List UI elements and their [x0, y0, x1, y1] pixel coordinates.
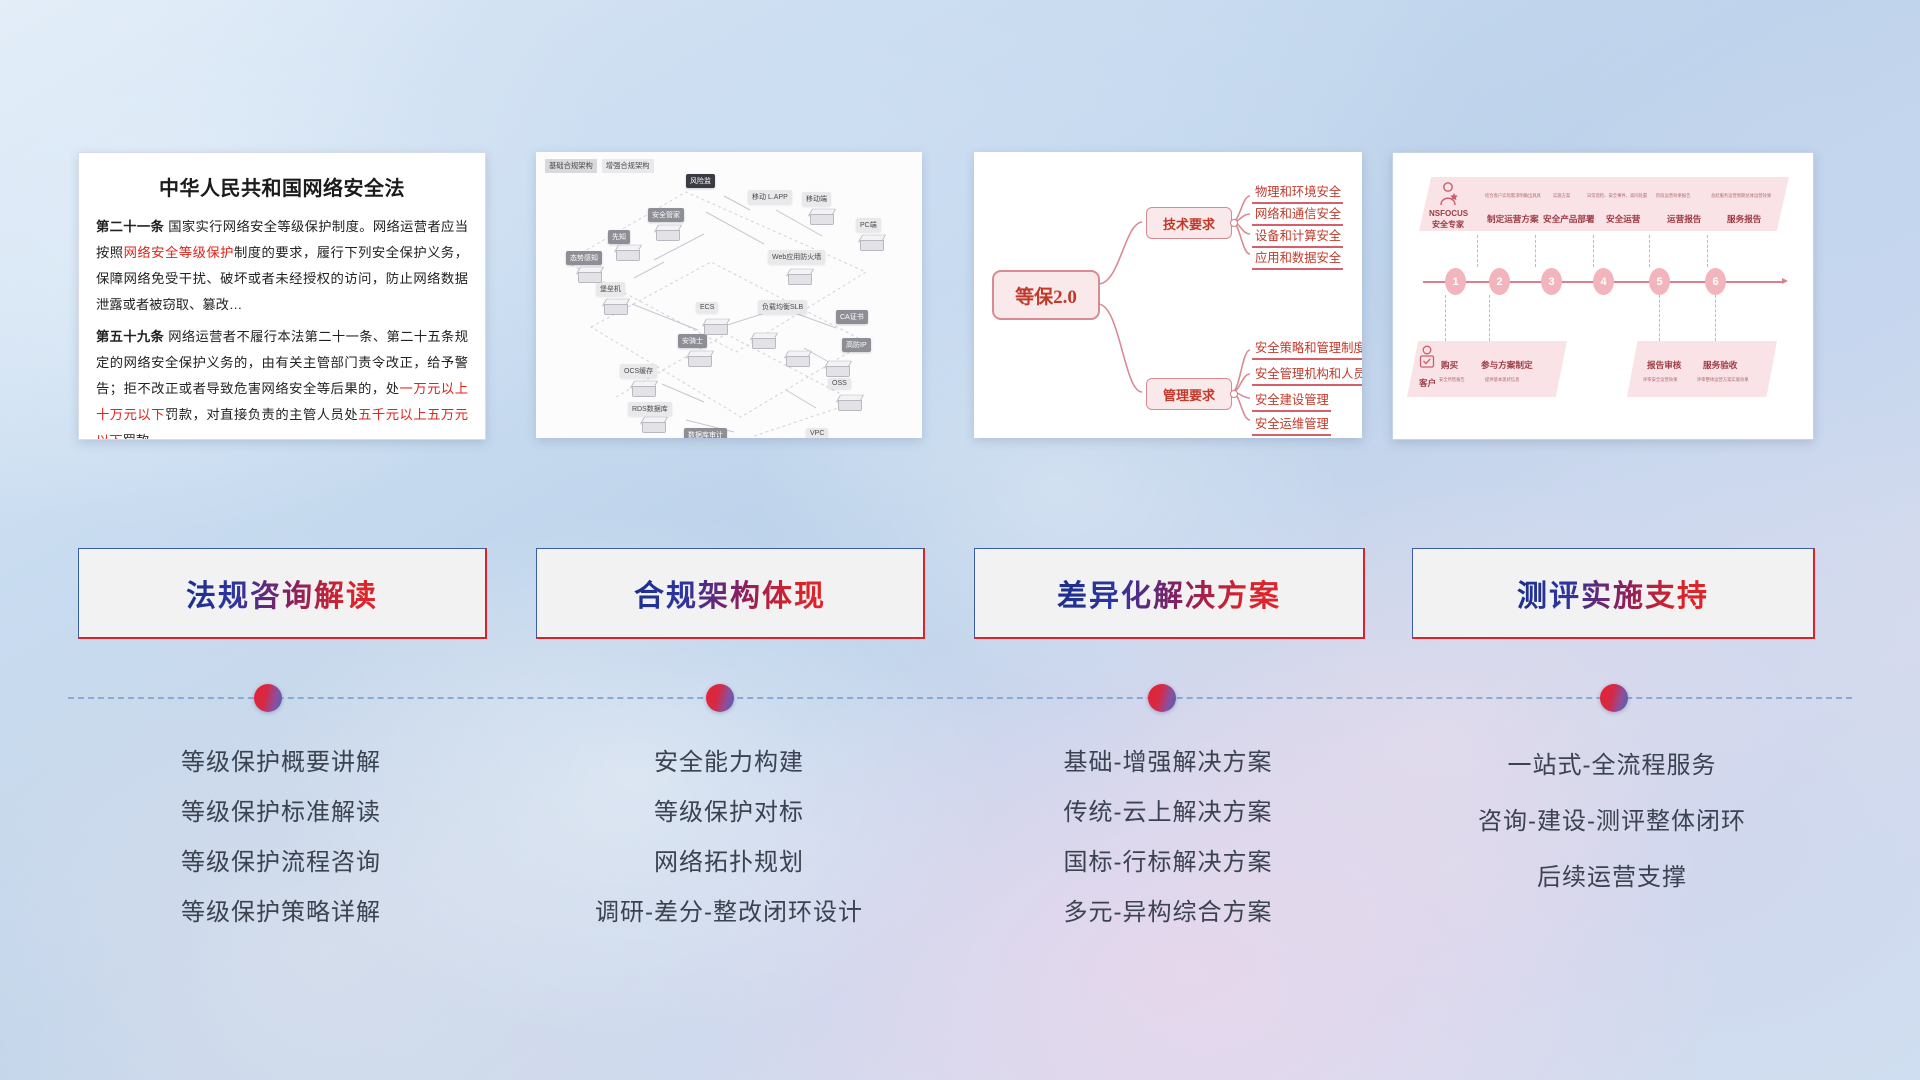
arch-monitor-icon	[858, 232, 884, 252]
timeline-dashed-line	[68, 697, 1852, 699]
expert-person-icon	[1437, 181, 1459, 207]
card-process-timeline[interactable]: NSFOCUS 安全专家 结合客户实际需求明确出具具 制定运营方案 实施方案 安…	[1392, 152, 1814, 440]
step-number: 3	[1541, 268, 1562, 295]
headline-button-assessment-support[interactable]: 测评实施支持	[1412, 548, 1815, 639]
architecture-canvas: 基础合规架构 增强合规架构	[536, 152, 922, 438]
step-sub: 日常巡检、安全事件、高同处置	[1587, 193, 1647, 199]
mindmap-canvas: 等保2.0 技术要求 物理和环境安全 网络和通信安全 设备和计算安全 应用和数据…	[974, 152, 1362, 438]
arch-node-ca-cert: CA证书	[836, 310, 868, 324]
process-canvas: NSFOCUS 安全专家 结合客户实际需求明确出具具 制定运营方案 实施方案 安…	[1393, 153, 1813, 439]
mindmap-leaf: 设备和计算安全	[1252, 226, 1343, 248]
step-title: 安全运营	[1606, 213, 1640, 225]
detail-item: 等级保护标准解读	[78, 788, 484, 838]
step-title: 购买	[1441, 359, 1458, 371]
detail-item: 调研-差分-整改闭环设计	[536, 888, 922, 938]
step-tick	[1489, 295, 1490, 341]
vendor-name: NSFOCUS	[1429, 209, 1468, 218]
card-mindmap[interactable]: 等保2.0 技术要求 物理和环境安全 网络和通信安全 设备和计算安全 应用和数据…	[974, 152, 1362, 438]
arch-cube-icon	[750, 330, 776, 350]
card-row: 中华人民共和国网络安全法 第二十一条 国家实行网络安全等级保护制度。网络运营者应…	[0, 152, 1920, 442]
mindmap-leaf: 安全运维管理	[1252, 414, 1331, 436]
detail-item: 传统-云上解决方案	[974, 788, 1362, 838]
step-title: 服务验收	[1703, 359, 1737, 371]
arch-node-db-audit: 数据库审计	[684, 428, 727, 438]
mindmap-branch-technical: 技术要求	[1146, 207, 1232, 239]
arch-cube-icon	[640, 414, 666, 434]
arch-node-mobile: 移动端	[802, 192, 831, 206]
timeline-dot[interactable]	[1600, 684, 1628, 712]
architecture-wireframe	[536, 152, 922, 438]
step-tick	[1445, 295, 1446, 341]
step-number: 4	[1593, 268, 1614, 295]
step-sub: 安全所售报告	[1439, 377, 1465, 383]
arch-node-ecs: ECS	[696, 302, 718, 313]
arch-cube-icon	[602, 296, 628, 316]
headline-button-differentiated-solution[interactable]: 差异化解决方案	[974, 548, 1365, 639]
law-body: 中华人民共和国网络安全法 第二十一条 国家实行网络安全等级保护制度。网络运营者应…	[79, 153, 485, 439]
step-number: 6	[1705, 268, 1726, 295]
mindmap-leaf: 应用和数据安全	[1252, 248, 1343, 270]
step-title: 制定运营方案	[1487, 213, 1539, 225]
detail-item: 等级保护策略详解	[78, 888, 484, 938]
arch-monitor-icon	[808, 206, 834, 226]
law-run-highlight: 网络安全等级保护	[124, 245, 234, 260]
step-sub: 评审安全运营效果	[1643, 377, 1677, 383]
step-sub: 阶段运营效果报告	[1656, 193, 1690, 199]
step-tick	[1535, 235, 1536, 267]
mindmap-knot-icon	[1230, 390, 1238, 398]
arch-node-mobile-app: 移动 L.APP	[748, 190, 792, 204]
step-tick	[1707, 235, 1708, 267]
arch-node-vpc: VPC	[806, 428, 828, 438]
law-article-2: 第五十九条	[96, 329, 164, 344]
timeline-dot[interactable]	[706, 684, 734, 712]
headline-button-label: 测评实施支持	[1517, 571, 1709, 615]
step-title: 服务报告	[1727, 213, 1761, 225]
detail-item: 等级保护对标	[536, 788, 922, 838]
detail-item: 等级保护流程咨询	[78, 838, 484, 888]
detail-item: 多元-异构综合方案	[974, 888, 1362, 938]
arch-node-ocs-cache: OCS缓存	[620, 364, 657, 378]
arch-cube-icon	[614, 242, 640, 262]
detail-column-4: 一站式-全流程服务 咨询-建设-测评整体闭环 后续运营支撑	[1412, 738, 1812, 906]
arch-cube-icon	[630, 378, 656, 398]
headline-button-label: 法规咨询解读	[186, 571, 378, 615]
detail-item: 后续运营支撑	[1412, 850, 1812, 906]
arch-node-oss: OSS	[828, 378, 851, 389]
detail-column-3: 基础-增强解决方案 传统-云上解决方案 国标-行标解决方案 多元-异构综合方案	[974, 738, 1362, 938]
arch-node-anti-ddos: 高防IP	[842, 338, 871, 352]
arch-cube-icon	[702, 316, 728, 336]
headline-button-compliance-architecture[interactable]: 合规架构体现	[536, 548, 925, 639]
step-sub: 总结服务运营周期总体运营效果	[1711, 193, 1771, 199]
card-architecture-diagram[interactable]: 基础合规架构 增强合规架构	[536, 152, 922, 438]
mindmap-leaf: 安全策略和管理制度	[1252, 338, 1362, 360]
mindmap-leaf: 安全管理机构和人员	[1252, 364, 1362, 386]
mindmap-leaf: 安全建设管理	[1252, 390, 1331, 412]
detail-item: 咨询-建设-测评整体闭环	[1412, 794, 1812, 850]
timeline-dot[interactable]	[1148, 684, 1176, 712]
arch-node-bastion: 堡垒机	[596, 282, 625, 296]
mindmap-knot-icon	[1230, 219, 1238, 227]
step-sub: 结合客户实际需求明确出具具	[1485, 193, 1541, 199]
step-tick	[1715, 295, 1716, 341]
step-tick	[1649, 235, 1650, 267]
arch-cube-icon	[836, 392, 862, 412]
arch-node-anqishi: 安骑士	[678, 334, 707, 348]
step-title: 运营报告	[1667, 213, 1701, 225]
law-run: 罚款。	[123, 433, 163, 440]
arch-cube-icon	[686, 348, 712, 368]
arch-cube-icon	[654, 222, 680, 242]
detail-item: 安全能力构建	[536, 738, 922, 788]
step-number: 2	[1489, 268, 1510, 295]
step-title: 报告审核	[1647, 359, 1681, 371]
mindmap-leaf: 物理和环境安全	[1252, 182, 1343, 204]
law-article-1: 第二十一条	[96, 219, 164, 234]
detail-column-2: 安全能力构建 等级保护对标 网络拓扑规划 调研-差分-整改闭环设计	[536, 738, 922, 938]
arch-node-pc: PC端	[856, 218, 881, 232]
mindmap-root: 等保2.0	[992, 270, 1100, 320]
headline-button-row: 法规咨询解读 合规架构体现 差异化解决方案 测评实施支持	[0, 548, 1920, 640]
step-title: 安全产品部署	[1543, 213, 1595, 225]
customer-person-icon	[1417, 345, 1437, 375]
slide-stage: 中华人民共和国网络安全法 第二十一条 国家实行网络安全等级保护制度。网络运营者应…	[0, 0, 1920, 1080]
law-run: 罚款，对直接负责的主管人员处	[165, 407, 358, 422]
step-tick	[1477, 235, 1478, 267]
headline-button-regulation-consulting[interactable]: 法规咨询解读	[78, 548, 487, 639]
law-title: 中华人民共和国网络安全法	[96, 172, 468, 201]
detail-item: 一站式-全流程服务	[1412, 738, 1812, 794]
detail-item: 网络拓扑规划	[536, 838, 922, 888]
step-tick	[1659, 295, 1660, 341]
arch-node-waf: Web应用防火墙	[768, 250, 825, 264]
mindmap-branch-management: 管理要求	[1146, 378, 1232, 410]
detail-item: 等级保护概要讲解	[78, 738, 484, 788]
customer-name: 客户	[1419, 377, 1436, 389]
arch-cube-icon	[784, 348, 810, 368]
arch-node-situational-awareness: 态势感知	[566, 251, 602, 265]
headline-button-label: 合规架构体现	[634, 571, 826, 615]
card-law-document[interactable]: 中华人民共和国网络安全法 第二十一条 国家实行网络安全等级保护制度。网络运营者应…	[78, 152, 486, 440]
step-title: 参与方案制定	[1481, 359, 1533, 371]
step-number: 1	[1445, 268, 1466, 295]
detail-column-1: 等级保护概要讲解 等级保护标准解读 等级保护流程咨询 等级保护策略详解	[78, 738, 484, 938]
arch-cube-icon	[786, 266, 812, 286]
step-sub: 评审整体运营方案实施效果	[1697, 377, 1749, 383]
arch-node-slb: 负载均衡SLB	[758, 300, 807, 314]
detail-columns: 等级保护概要讲解 等级保护标准解读 等级保护流程咨询 等级保护策略详解 安全能力…	[0, 738, 1920, 998]
timeline-dot[interactable]	[254, 684, 282, 712]
arch-cube-icon	[576, 264, 602, 284]
arch-node-risk: 风险监	[686, 174, 715, 188]
step-sub: 实施方案	[1553, 193, 1570, 199]
mindmap-leaf: 网络和通信安全	[1252, 204, 1343, 226]
detail-item: 国标-行标解决方案	[974, 838, 1362, 888]
law-paragraph-1: 第二十一条 国家实行网络安全等级保护制度。网络运营者应当按照网络安全等级保护制度…	[96, 214, 468, 318]
vendor-sub: 安全专家	[1432, 219, 1464, 230]
step-number: 5	[1649, 268, 1670, 295]
step-tick	[1593, 235, 1594, 267]
detail-item: 基础-增强解决方案	[974, 738, 1362, 788]
arch-cube-icon	[824, 358, 850, 378]
arch-node-security-butler: 安全管家	[648, 208, 684, 222]
law-paragraph-2: 第五十九条 网络运营者不履行本法第二十一条、第二十五条规定的网络安全保护义务的，…	[96, 324, 468, 440]
step-sub: 提供基本现状信息	[1485, 377, 1519, 383]
headline-button-label: 差异化解决方案	[1057, 571, 1281, 615]
